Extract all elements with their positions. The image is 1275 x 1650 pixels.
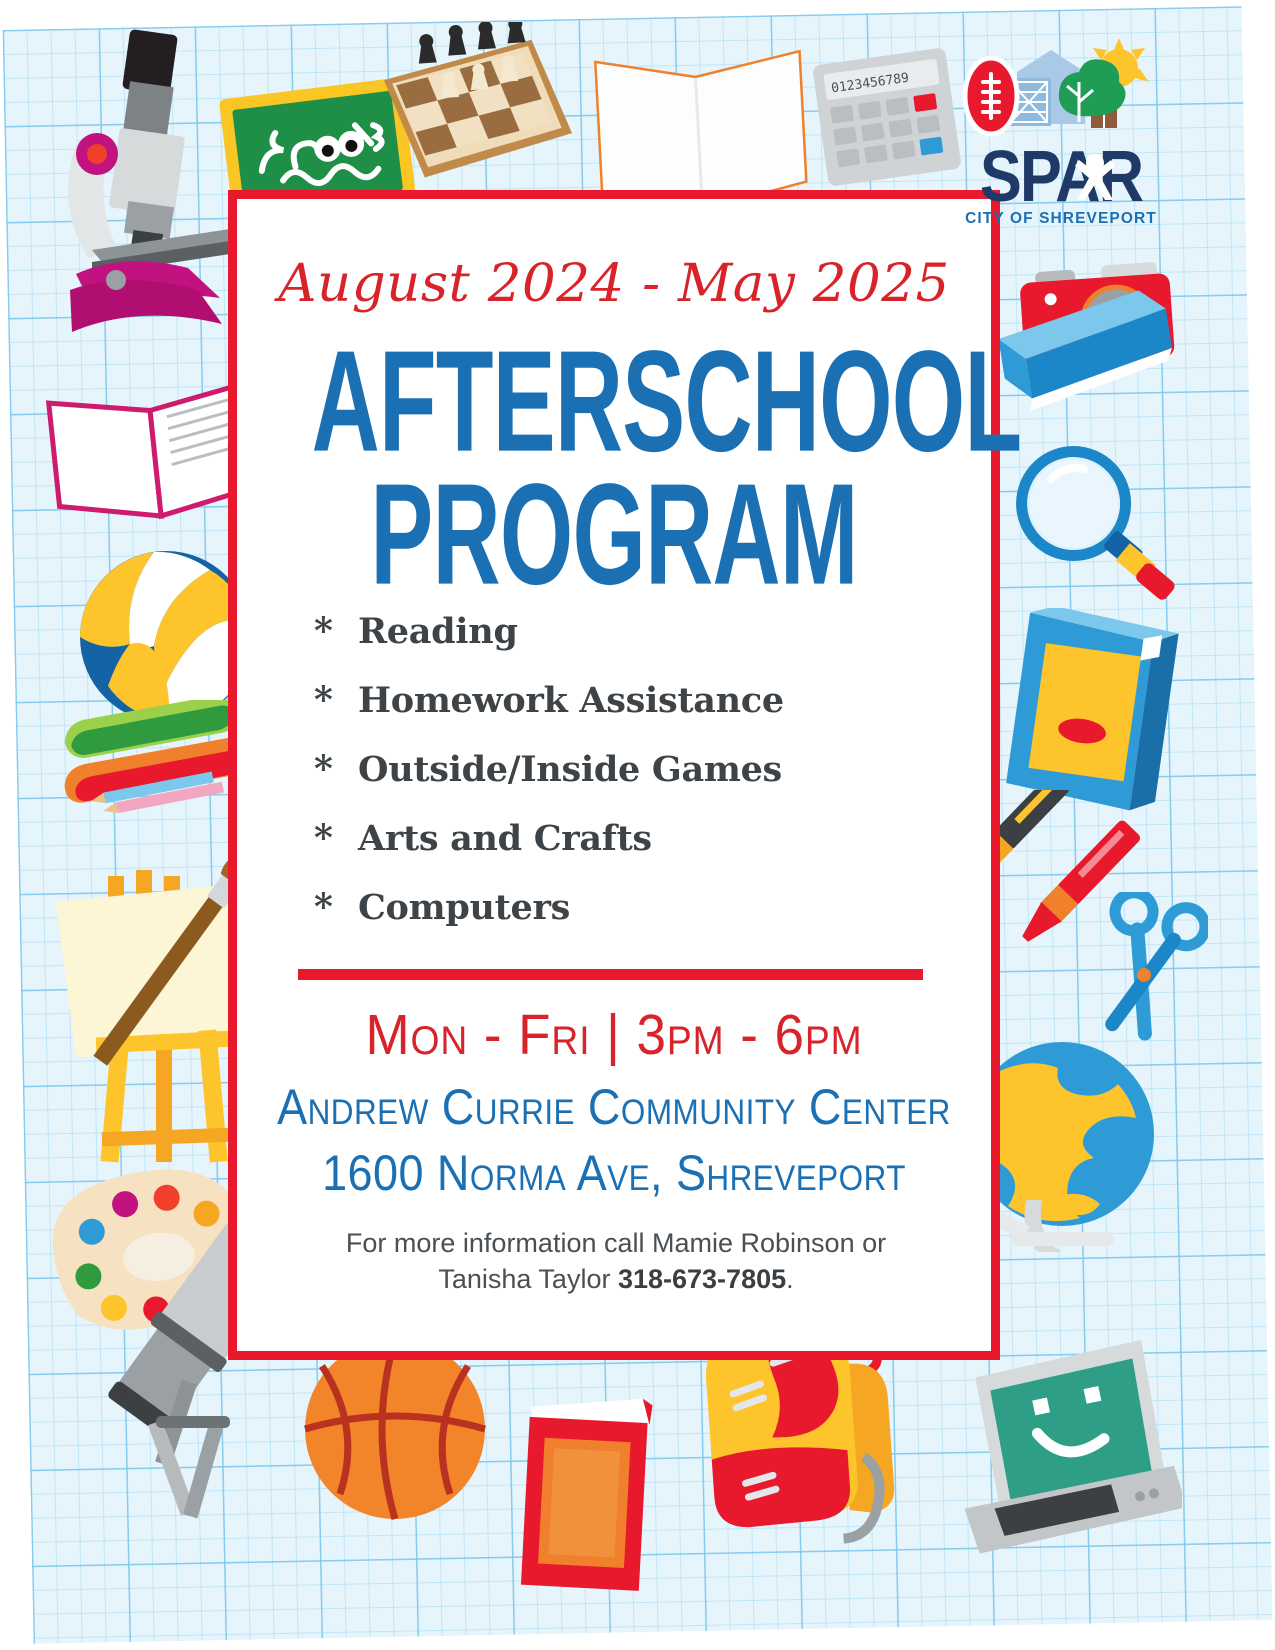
list-item: * Computers xyxy=(314,887,954,928)
spar-wordmark: SPAR xyxy=(955,141,1167,213)
red-book-icon xyxy=(512,1380,662,1600)
divider-rule xyxy=(298,969,923,980)
magnifier-icon xyxy=(1014,440,1179,615)
asterisk-bullet-icon: * xyxy=(314,751,358,787)
list-item: * Arts and Crafts xyxy=(314,818,954,859)
venue-address: 1600 Norma Ave, Shreveport xyxy=(274,1144,954,1202)
venue-name: Andrew Currie Community Center xyxy=(274,1078,954,1136)
schedule-text: Mon - Fri | 3pm - 6pm xyxy=(262,1002,965,1068)
spar-tagline: CITY OF SHREVEPORT xyxy=(955,210,1167,228)
contact-info: For more information call Mamie Robinson… xyxy=(331,1226,901,1298)
spar-person-icon xyxy=(1073,150,1117,202)
asterisk-bullet-icon: * xyxy=(314,682,358,718)
contact-phone[interactable]: 318-673-7805 xyxy=(618,1264,786,1294)
activity-label: Homework Assistance xyxy=(358,680,784,721)
flyer-page: 0123456789 xyxy=(0,0,1275,1650)
asterisk-bullet-icon: * xyxy=(314,820,358,856)
flyer-content: August 2024 - May 2025 AFTERSCHOOL PROGR… xyxy=(236,196,992,1354)
activity-label: Computers xyxy=(358,887,570,928)
contact-text: For more information call Mamie Robinson… xyxy=(346,1228,886,1294)
list-item: * Homework Assistance xyxy=(314,680,954,721)
spar-logo: SPAR CITY OF SHREVEPORT xyxy=(955,38,1167,233)
contact-suffix: . xyxy=(786,1264,794,1294)
page-title: AFTERSCHOOL PROGRAM xyxy=(312,336,917,601)
activity-label: Reading xyxy=(358,611,518,652)
chessboard-icon xyxy=(368,22,578,192)
calculator-icon: 0123456789 xyxy=(812,48,962,188)
list-item: * Outside/Inside Games xyxy=(314,749,954,790)
list-item: * Reading xyxy=(314,611,954,652)
program-dates: August 2024 - May 2025 xyxy=(228,254,999,314)
activity-label: Outside/Inside Games xyxy=(358,749,782,790)
activities-list: * Reading * Homework Assistance * Outsid… xyxy=(314,611,954,956)
basketball-icon xyxy=(300,1334,490,1524)
activity-label: Arts and Crafts xyxy=(358,818,652,859)
asterisk-bullet-icon: * xyxy=(314,889,358,925)
title-line-2: PROGRAM xyxy=(312,468,917,600)
asterisk-bullet-icon: * xyxy=(314,613,358,649)
laptop-icon xyxy=(932,1326,1182,1556)
